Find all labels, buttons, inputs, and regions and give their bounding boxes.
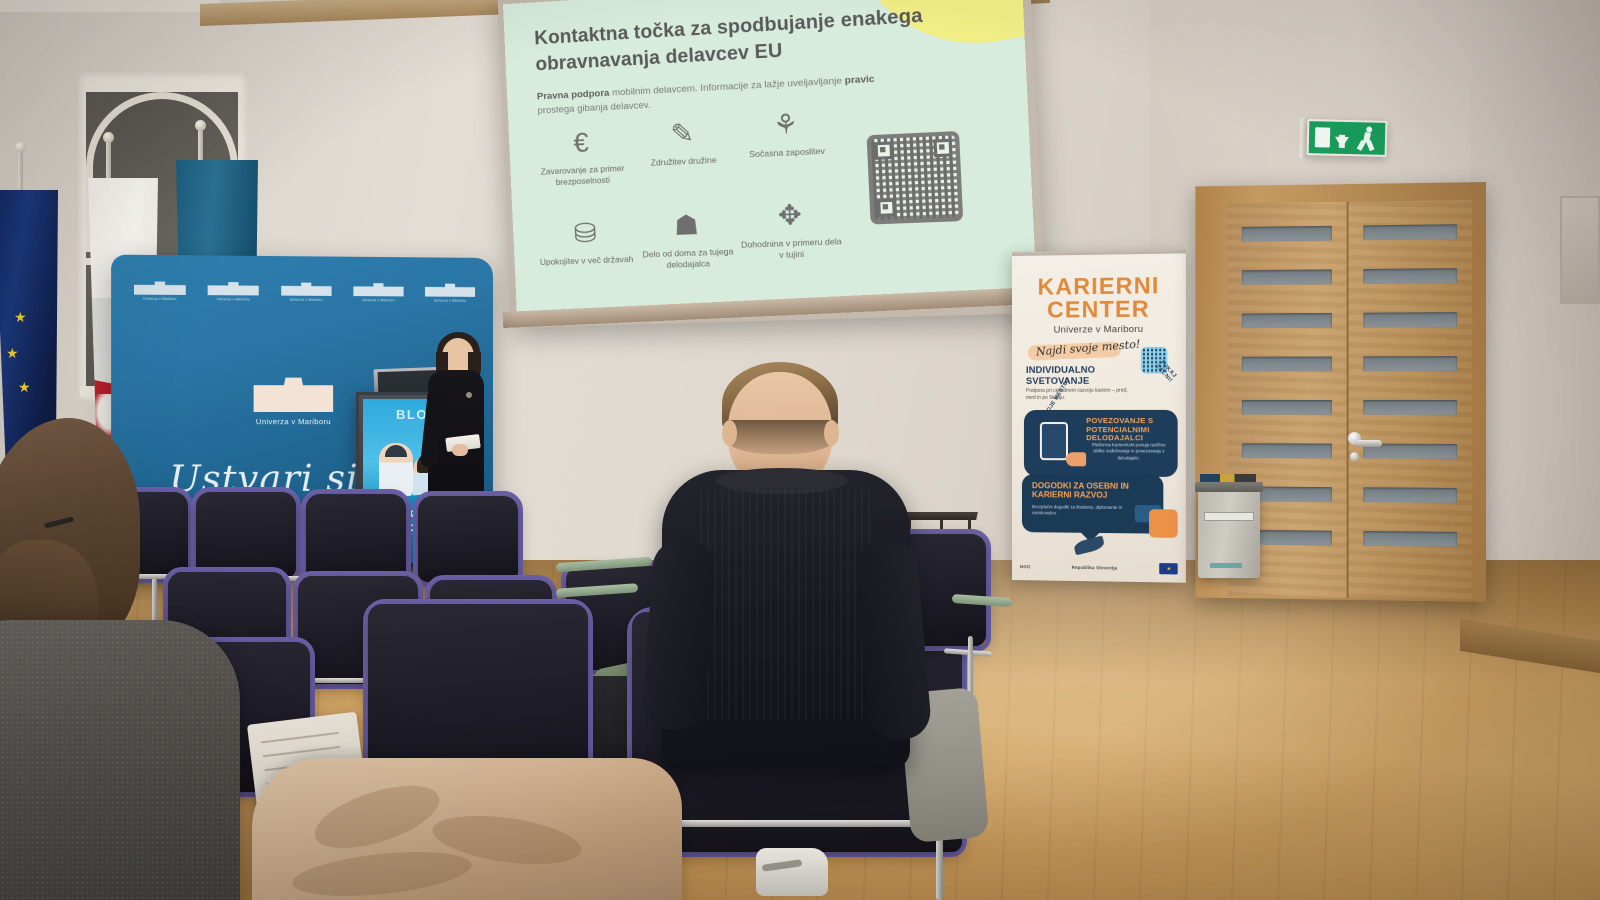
backdrop-mini-logo: Univerza v Mariboru xyxy=(425,283,475,302)
backdrop-logo-row: Univerza v Mariboru Univerza v Mariboru … xyxy=(134,281,475,303)
rollup-footer-logo-2: Republika Slovenija xyxy=(1072,565,1118,571)
backdrop-main-logo: Univerza v Mariboru xyxy=(254,378,334,427)
rollup-section1-title: INDIVIDUALNO SVETOVANJE xyxy=(1026,363,1137,386)
slide-icon-cell-3: ⚘ Sočasna zaposlitev xyxy=(733,99,840,161)
backdrop-mini-logo-label: Univerza v Mariboru xyxy=(425,299,475,303)
university-building-icon xyxy=(353,283,403,296)
audience-man-ear-left xyxy=(722,420,737,446)
chair-leg xyxy=(152,578,157,624)
backdrop-mini-logo: Univerza v Mariboru xyxy=(134,281,186,301)
audience-man-shoe xyxy=(756,848,828,896)
rollup-subtitle: Univerze v Mariboru xyxy=(1012,323,1186,336)
audience-woman-coat-texture xyxy=(0,620,240,900)
presentation-slide: Kontaktna točka za spodbujanje enakega o… xyxy=(503,0,1037,316)
university-building-icon xyxy=(254,378,334,412)
rollup-footer-logo-1: NOO xyxy=(1020,564,1031,569)
rollup-section3-text: Brezplačni dogodki za študente, diploman… xyxy=(1032,504,1137,517)
rollup-title-line2: CENTER xyxy=(1012,297,1186,323)
emergency-exit-sign xyxy=(1307,119,1388,157)
door-lock-icon[interactable] xyxy=(1350,452,1359,461)
university-building-icon xyxy=(134,281,186,295)
door-leaf-right[interactable] xyxy=(1349,200,1472,600)
rollup-section2-text: Platforma KarierniUM ponuja različne obl… xyxy=(1086,442,1171,461)
rollup-section3-title: DOGODKI ZA OSEBNI IN KARIERNI RAZVOJ xyxy=(1032,481,1145,501)
slide-icon-cell-1: € Zavarovanje za primer brezposelnosti xyxy=(530,118,633,190)
backdrop-mini-logo-label: Univerza v Mariboru xyxy=(134,297,186,301)
framed-picture xyxy=(1560,196,1600,304)
flagpole-knob-eu xyxy=(15,142,26,153)
slide-icon-cell-5: ☗ Delo od doma za tujega delodajalca xyxy=(634,201,740,273)
chair[interactable] xyxy=(196,492,296,578)
slide-icon-cell-4: ⛁ Upokojitev v več državah xyxy=(534,209,637,269)
karierni-center-rollup-banner: KARIERNI CENTER Univerze v Mariboru Najd… xyxy=(1012,249,1186,582)
slide-heading: Kontaktna točka za spodbujanje enakega o… xyxy=(534,0,973,79)
speaker-hand xyxy=(452,444,468,456)
slide-icon-label-1: Zavarovanje za primer brezposelnosti xyxy=(532,162,633,189)
rollup-stamp-icon xyxy=(1149,509,1178,538)
piggy-bank-icon: ⛁ xyxy=(534,209,636,257)
document-pencil-icon: ✎ xyxy=(630,109,735,159)
backdrop-mini-logo-label: Univerza v Mariboru xyxy=(281,298,332,302)
bin-label xyxy=(1204,512,1254,521)
hand-coin-euro-icon: € xyxy=(530,118,632,167)
rollup-footer-logos: NOO Republika Slovenija ★ xyxy=(1020,561,1178,574)
slide-icon-cell-2: ✎ Združitev družine xyxy=(630,109,735,170)
flagpole-knob-slovenia xyxy=(103,132,114,143)
slide-subtitle-bold-tail: pravic xyxy=(844,74,874,87)
chair[interactable] xyxy=(306,494,406,580)
slide-icon-label-6: Dohodnina v primeru dela v tujini xyxy=(739,236,845,263)
backdrop-mini-logo-label: Univerza v Mariboru xyxy=(353,298,403,302)
backdrop-mini-logo: Univerza v Mariboru xyxy=(281,282,332,302)
rollup-section1-text: Podpora pri celostnem razvoju kariere – … xyxy=(1026,388,1137,403)
handshake-hands-icon: ✥ xyxy=(737,190,844,239)
bin-accent-stripe xyxy=(1210,563,1242,568)
eu-emblem-icon: ★ xyxy=(1159,563,1177,574)
rollup-section2-title: POVEZOVANJE S POTENCIALNIMI DELODAJALCI xyxy=(1086,417,1171,443)
slide-icon-cell-6: ✥ Dohodnina v primeru dela v tujini xyxy=(737,190,845,263)
phone-hand-icon xyxy=(1040,422,1068,460)
university-building-icon xyxy=(425,283,475,296)
backdrop-mini-logo: Univerza v Mariboru xyxy=(208,282,259,302)
hand-icon xyxy=(1066,452,1086,466)
university-building-icon xyxy=(208,282,259,296)
flagpole-knob-university xyxy=(195,120,206,131)
rollup-qr-hint: TUKAJ ZAČNI! xyxy=(1154,359,1185,391)
audience-man-hair-fade xyxy=(726,420,834,454)
chair[interactable] xyxy=(418,496,518,582)
slide-icon-label-4: Upokojitev v več državah xyxy=(536,254,637,269)
recycling-bin xyxy=(1198,490,1260,578)
slide-icon-label-5: Delo od doma za tujega delodajalca xyxy=(636,246,740,273)
door-handle[interactable] xyxy=(1356,440,1382,447)
speaker-brooch-icon xyxy=(466,392,472,398)
qr-code-icon xyxy=(867,131,964,225)
university-building-icon xyxy=(281,282,332,295)
blanket xyxy=(252,758,682,900)
side-table xyxy=(904,512,978,520)
hands-people-icon: ⚘ xyxy=(733,99,840,149)
ceiling-white-strip xyxy=(0,0,220,12)
rollup-swoosh-logo-icon xyxy=(1073,536,1106,556)
audience-man-sweater-texture xyxy=(700,490,870,720)
audience-man-ear-right xyxy=(824,420,839,446)
rollup-bubble-events: DOGODKI ZA OSEBNI IN KARIERNI RAZVOJ Bre… xyxy=(1022,474,1163,534)
audience-man-arm-left xyxy=(641,538,716,732)
running-person-icon xyxy=(1357,126,1378,150)
person-laptop-icon: ☗ xyxy=(634,201,739,250)
bin-lid xyxy=(1195,482,1263,492)
exit-door-icon xyxy=(1315,127,1330,147)
backdrop-logo-caption: Univerza v Mariboru xyxy=(254,417,334,426)
slide-subtitle-strong: Pravna podpora xyxy=(537,88,610,103)
backdrop-mini-logo-label: Univerza v Mariboru xyxy=(208,297,259,301)
conference-room-photo: ★ ★ ★ UM Kontaktna točka za spodbujanje … xyxy=(0,0,1600,900)
down-arrow-icon xyxy=(1335,136,1349,147)
backdrop-mini-logo: Univerza v Mariboru xyxy=(353,283,403,302)
double-door[interactable] xyxy=(1227,200,1472,600)
